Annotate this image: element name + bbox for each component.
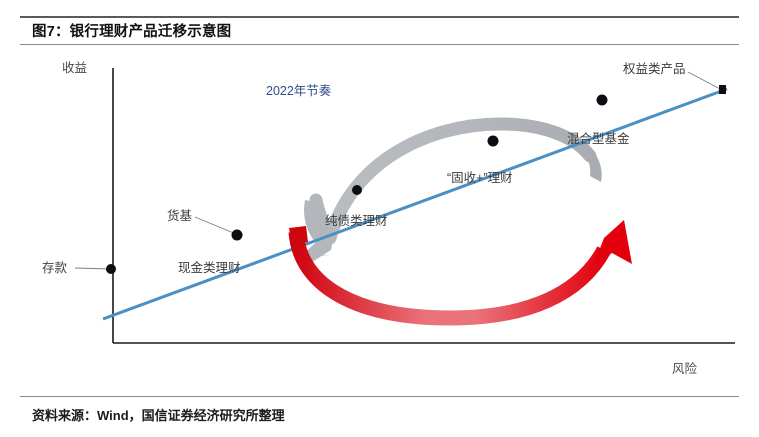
point-deposit bbox=[106, 264, 116, 274]
label-cash-management: 现金类理财 bbox=[178, 262, 241, 275]
divider-footer bbox=[20, 396, 739, 397]
gray-migration-arrow bbox=[297, 124, 602, 262]
label-deposit: 存款 bbox=[42, 262, 67, 275]
label-fixed-income-plus: “固收+”理财 bbox=[447, 172, 513, 185]
red-migration-arrow bbox=[289, 220, 632, 318]
label-hybrid-fund: 混合型基金 bbox=[567, 133, 630, 146]
point-fixed-income-plus bbox=[488, 136, 499, 147]
divider-under-title bbox=[20, 44, 739, 45]
data-points bbox=[106, 85, 726, 274]
chart-plot-area: 收益 风险 2022年节奏 存款 货基 现金类理财 纯债类理财 “固收+”理财 … bbox=[0, 50, 759, 390]
y-axis-label: 收益 bbox=[62, 62, 87, 75]
label-pure-bond: 纯债类理财 bbox=[325, 215, 388, 228]
label-equity: 权益类产品 bbox=[623, 63, 686, 76]
figure-container: 图7：银行理财产品迁移示意图 bbox=[0, 0, 759, 437]
risk-return-trend-line bbox=[103, 89, 727, 319]
label-money-fund: 货基 bbox=[167, 210, 192, 223]
divider-top bbox=[20, 16, 739, 18]
x-axis-label: 风险 bbox=[672, 363, 697, 376]
point-equity bbox=[719, 85, 726, 94]
figure-source: 资料来源：Wind，国信证券经济研究所整理 bbox=[32, 405, 285, 424]
point-pure-bond bbox=[352, 185, 362, 195]
axis-lines bbox=[113, 68, 735, 343]
point-money-fund bbox=[232, 230, 243, 241]
annotation-2022-rhythm: 2022年节奏 bbox=[266, 85, 331, 98]
point-hybrid-fund bbox=[597, 95, 608, 106]
figure-title: 图7：银行理财产品迁移示意图 bbox=[32, 20, 231, 41]
